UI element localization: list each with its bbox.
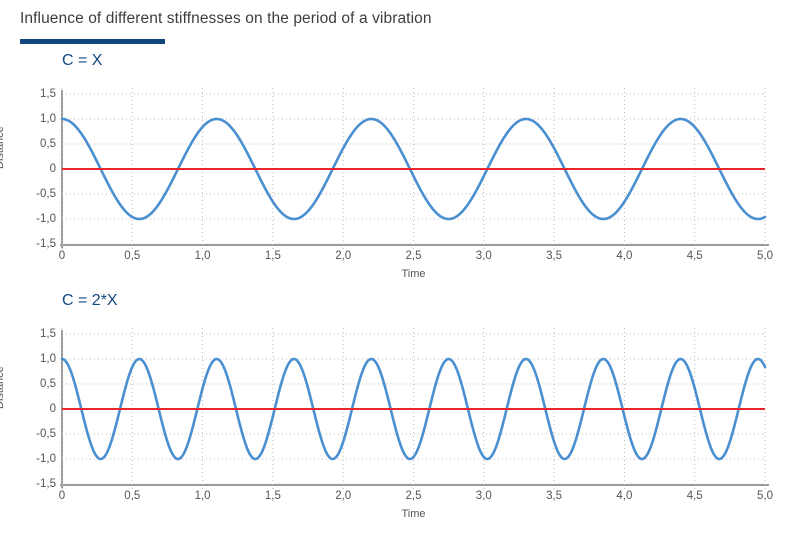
chart-1-xtick: 3,5 bbox=[546, 250, 562, 262]
chart-2-xtick: 2,0 bbox=[335, 490, 351, 502]
chart-2-ytick: -1,0 bbox=[16, 453, 56, 465]
chart-1-ytick: 1,0 bbox=[16, 113, 56, 125]
chart-1-xtick: 1,0 bbox=[195, 250, 211, 262]
chart-1-xtick: 0 bbox=[59, 250, 65, 262]
chart-2-ytick: 1,5 bbox=[16, 328, 56, 340]
chart-1-ytick: 1,5 bbox=[16, 88, 56, 100]
chart-2-series bbox=[62, 334, 765, 484]
chart-2-xtick: 5,0 bbox=[757, 490, 773, 502]
chart-2-xtick: 2,5 bbox=[406, 490, 422, 502]
chart-2-xtick: 4,5 bbox=[687, 490, 703, 502]
chart-1-ytick: 0 bbox=[16, 163, 56, 175]
chart-1-xtick: 5,0 bbox=[757, 250, 773, 262]
chart-1-xtick: 2,5 bbox=[406, 250, 422, 262]
chart-1-ytick: 0,5 bbox=[16, 138, 56, 150]
chart-2-ytick-labels: 1,51,00,50-0,5-1,0-1,5 bbox=[8, 334, 56, 484]
chart-2-xtick: 1,0 bbox=[195, 490, 211, 502]
chart-1-xtick-labels: 00,51,01,52,02,53,03,54,04,55,0 bbox=[62, 250, 765, 266]
chart-2-xtick: 0 bbox=[59, 490, 65, 502]
chart-2-xaxis-label: Time bbox=[62, 508, 765, 520]
chart-2-ytick: -1,5 bbox=[16, 478, 56, 490]
chart-2-xtick-labels: 00,51,01,52,02,53,03,54,04,55,0 bbox=[62, 490, 765, 506]
chart-2-ytick: 0,5 bbox=[16, 378, 56, 390]
chart-1-xtick: 3,0 bbox=[476, 250, 492, 262]
chart-1-plot-area bbox=[62, 94, 765, 244]
chart-2-xtick: 3,0 bbox=[476, 490, 492, 502]
chart-2-yaxis-label: Distance bbox=[0, 366, 6, 409]
chart-2-xtick: 4,0 bbox=[616, 490, 632, 502]
chart-1-xtick: 4,0 bbox=[616, 250, 632, 262]
chart-2-xtick: 1,5 bbox=[265, 490, 281, 502]
chart-1-yaxis-label: Distance bbox=[0, 126, 6, 169]
title-accent-bar bbox=[20, 39, 165, 44]
chart-1-xtick: 0,5 bbox=[124, 250, 140, 262]
chart-1-xtick: 1,5 bbox=[265, 250, 281, 262]
chart-1-ytick: -1,5 bbox=[16, 238, 56, 250]
chart-1-series bbox=[62, 94, 765, 244]
chart-2-ytick: 1,0 bbox=[16, 353, 56, 365]
chart-panel-1: C = X Distance 1,51,00,50-0,5-1,0-1,5 00… bbox=[0, 52, 790, 282]
chart-2-title: C = 2*X bbox=[62, 292, 118, 310]
chart-2-ytick: -0,5 bbox=[16, 428, 56, 440]
chart-1-ytick: -0,5 bbox=[16, 188, 56, 200]
chart-2-xtick: 0,5 bbox=[124, 490, 140, 502]
page-title: Influence of different stiffnesses on th… bbox=[20, 10, 432, 28]
chart-2-xtick: 3,5 bbox=[546, 490, 562, 502]
chart-panel-2: C = 2*X Distance 1,51,00,50-0,5-1,0-1,5 … bbox=[0, 292, 790, 532]
chart-1-xtick: 2,0 bbox=[335, 250, 351, 262]
chart-2-plot-area bbox=[62, 334, 765, 484]
chart-1-title: C = X bbox=[62, 52, 102, 70]
chart-1-ytick-labels: 1,51,00,50-0,5-1,0-1,5 bbox=[8, 94, 56, 244]
chart-1-xaxis-label: Time bbox=[62, 268, 765, 280]
chart-1-ytick: -1,0 bbox=[16, 213, 56, 225]
chart-2-ytick: 0 bbox=[16, 403, 56, 415]
chart-1-xtick: 4,5 bbox=[687, 250, 703, 262]
